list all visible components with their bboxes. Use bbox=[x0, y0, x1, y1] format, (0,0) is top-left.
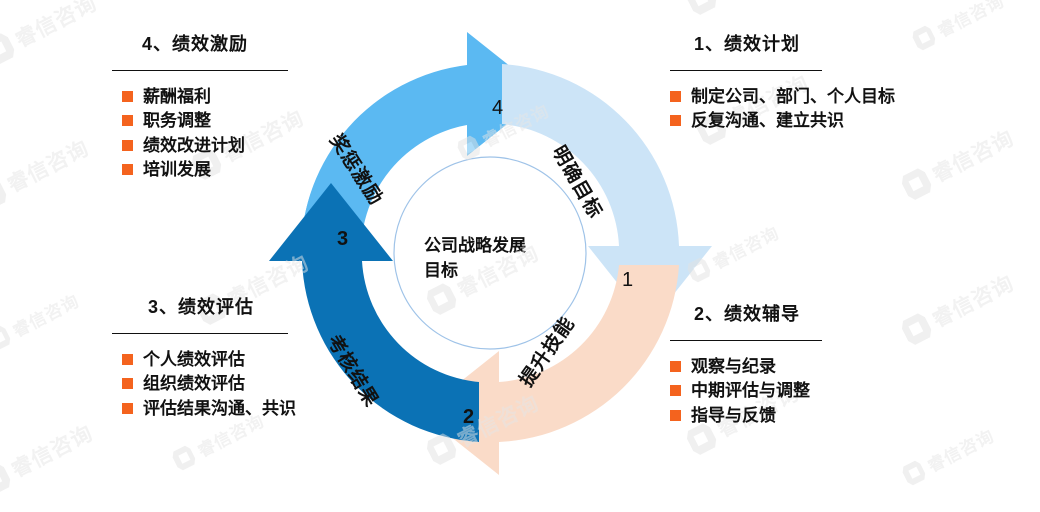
bullet-square-icon bbox=[670, 361, 681, 372]
list-item-label: 绩效改进计划 bbox=[143, 134, 245, 157]
list-item: 制定公司、部门、个人目标 bbox=[670, 85, 895, 108]
hexagon-logo-icon bbox=[910, 24, 938, 53]
watermark: 睿信咨询 bbox=[909, 0, 1008, 54]
watermark-text: 睿信咨询 bbox=[7, 287, 83, 342]
list-item-label: 制定公司、部门、个人目标 bbox=[691, 85, 895, 108]
watermark: 睿信咨询 bbox=[0, 0, 102, 68]
watermark: 睿信咨询 bbox=[899, 422, 998, 489]
list-item-label: 个人绩效评估 bbox=[143, 348, 245, 371]
watermark-text: 睿信咨询 bbox=[6, 417, 98, 484]
hexagon-logo-icon bbox=[900, 459, 928, 488]
watermark-text: 睿信咨询 bbox=[932, 0, 1008, 42]
list-item: 指导与反馈 bbox=[670, 404, 822, 427]
bullet-square-icon bbox=[670, 385, 681, 396]
arc-number-3: 3 bbox=[337, 228, 348, 251]
list-item-label: 反复沟通、建立共识 bbox=[691, 109, 844, 132]
diagram-canvas: 奖惩激励 明确目标 提升技能 考核结果 4 1 2 3 公司战略发展 目标 4、… bbox=[0, 0, 1040, 512]
bullet-square-icon bbox=[122, 91, 133, 102]
block-incentive: 4、绩效激励 薪酬福利 职务调整 绩效改进计划 培训发展 bbox=[112, 30, 288, 183]
watermark: 睿信咨询 bbox=[898, 267, 1019, 348]
watermark-text: 睿信咨询 bbox=[927, 267, 1019, 334]
center-goal-text: 公司战略发展 目标 bbox=[424, 234, 564, 283]
bullet-square-icon bbox=[122, 403, 133, 414]
block-plan-list: 制定公司、部门、个人目标 反复沟通、建立共识 bbox=[670, 85, 895, 133]
center-goal-line2: 目标 bbox=[424, 259, 564, 284]
hexagon-logo-icon bbox=[0, 31, 18, 68]
list-item-label: 组织绩效评估 bbox=[143, 372, 245, 395]
watermark: 睿信咨询 bbox=[0, 287, 83, 354]
list-item-label: 指导与反馈 bbox=[691, 404, 776, 427]
watermark: 睿信咨询 bbox=[0, 132, 94, 213]
list-item: 观察与纪录 bbox=[670, 355, 822, 378]
list-item: 中期评估与调整 bbox=[670, 379, 822, 402]
block-coaching-list: 观察与纪录 中期评估与调整 指导与反馈 bbox=[670, 355, 822, 427]
bullet-square-icon bbox=[122, 115, 133, 126]
hexagon-logo-icon bbox=[0, 461, 14, 498]
block-coaching: 2、绩效辅导 观察与纪录 中期评估与调整 指导与反馈 bbox=[670, 300, 822, 428]
list-item-label: 薪酬福利 bbox=[143, 85, 211, 108]
block-evaluation-divider bbox=[112, 333, 288, 334]
watermark-text: 睿信咨询 bbox=[10, 0, 102, 54]
block-incentive-list: 薪酬福利 职务调整 绩效改进计划 培训发展 bbox=[122, 85, 288, 182]
block-coaching-title: 2、绩效辅导 bbox=[694, 300, 822, 326]
hexagon-logo-icon bbox=[0, 176, 10, 213]
watermark-text: 睿信咨询 bbox=[712, 0, 804, 4]
list-item: 组织绩效评估 bbox=[122, 372, 296, 395]
block-plan: 1、绩效计划 制定公司、部门、个人目标 反复沟通、建立共识 bbox=[670, 30, 895, 134]
bullet-square-icon bbox=[122, 164, 133, 175]
watermark: 睿信咨询 bbox=[898, 122, 1019, 203]
watermark-text: 睿信咨询 bbox=[927, 122, 1019, 189]
watermark: 睿信咨询 bbox=[0, 417, 98, 498]
list-item-label: 职务调整 bbox=[143, 109, 211, 132]
block-coaching-divider bbox=[670, 340, 822, 341]
list-item-label: 培训发展 bbox=[143, 158, 211, 181]
bullet-square-icon bbox=[670, 115, 681, 126]
block-evaluation: 3、绩效评估 个人绩效评估 组织绩效评估 评估结果沟通、共识 bbox=[112, 293, 296, 421]
block-incentive-title: 4、绩效激励 bbox=[142, 30, 288, 56]
arc-number-4: 4 bbox=[492, 97, 503, 120]
list-item-label: 观察与纪录 bbox=[691, 355, 776, 378]
hexagon-logo-icon bbox=[684, 0, 720, 17]
block-incentive-divider bbox=[112, 70, 288, 71]
watermark: 睿信咨询 bbox=[683, 0, 804, 18]
bullet-square-icon bbox=[670, 91, 681, 102]
list-item: 绩效改进计划 bbox=[122, 134, 288, 157]
watermark-text: 睿信咨询 bbox=[922, 422, 998, 477]
list-item: 个人绩效评估 bbox=[122, 348, 296, 371]
list-item: 评估结果沟通、共识 bbox=[122, 397, 296, 420]
arc-number-2: 2 bbox=[463, 406, 474, 429]
hexagon-logo-icon bbox=[899, 166, 935, 203]
watermark: 睿信咨询 bbox=[169, 0, 268, 2]
list-item-label: 评估结果沟通、共识 bbox=[143, 397, 296, 420]
bullet-square-icon bbox=[122, 140, 133, 151]
watermark-text: 睿信咨询 bbox=[2, 132, 94, 199]
list-item: 培训发展 bbox=[122, 158, 288, 181]
bullet-square-icon bbox=[122, 354, 133, 365]
list-item: 薪酬福利 bbox=[122, 85, 288, 108]
arc-number-1: 1 bbox=[622, 269, 633, 292]
list-item: 反复沟通、建立共识 bbox=[670, 109, 895, 132]
block-plan-divider bbox=[670, 70, 822, 71]
bullet-square-icon bbox=[670, 410, 681, 421]
hexagon-logo-icon bbox=[899, 311, 935, 348]
bullet-square-icon bbox=[122, 378, 133, 389]
hexagon-logo-icon bbox=[170, 444, 198, 473]
list-item-label: 中期评估与调整 bbox=[691, 379, 810, 402]
hexagon-logo-icon bbox=[0, 324, 13, 353]
block-evaluation-list: 个人绩效评估 组织绩效评估 评估结果沟通、共识 bbox=[122, 348, 296, 420]
block-plan-title: 1、绩效计划 bbox=[694, 30, 895, 56]
list-item: 职务调整 bbox=[122, 109, 288, 132]
center-goal-line1: 公司战略发展 bbox=[424, 234, 564, 259]
block-evaluation-title: 3、绩效评估 bbox=[148, 293, 296, 319]
